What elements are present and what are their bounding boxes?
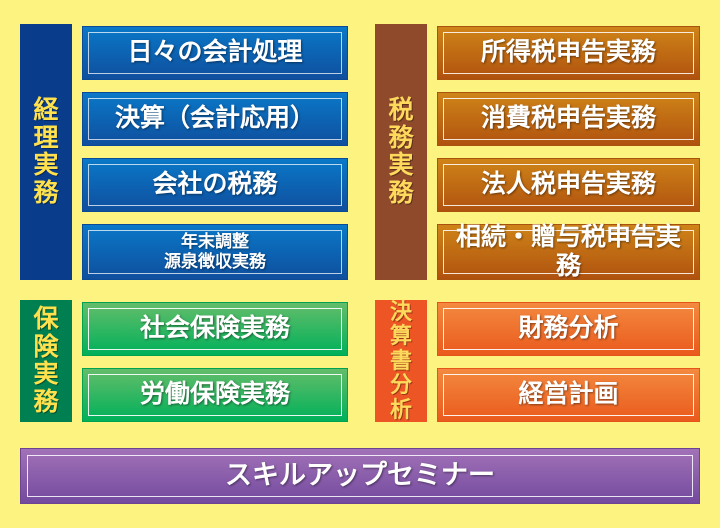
course-box-daily-accounting[interactable]: 日々の会計処理 bbox=[82, 26, 348, 80]
course-box-corporate-tax-filing[interactable]: 法人税申告実務 bbox=[437, 158, 700, 212]
course-box-inheritance-gift-tax-filing[interactable]: 相続・贈与税申告実務 bbox=[437, 224, 700, 280]
course-title-line2: 源泉徴収実務 bbox=[164, 252, 266, 271]
category-label-char: 理 bbox=[33, 126, 58, 152]
course-box-labor-insurance[interactable]: 労働保険実務 bbox=[82, 368, 348, 422]
category-label-kessansho-bunseki[interactable]: 決 算 書 分 析 bbox=[375, 300, 427, 422]
course-box-consumption-tax-filing[interactable]: 消費税申告実務 bbox=[437, 92, 700, 146]
category-label-char: 実 bbox=[388, 153, 413, 179]
course-title-multiline: 年末調整 源泉徴収実務 bbox=[164, 232, 266, 272]
category-label-char: 決 bbox=[390, 301, 412, 323]
category-label-char: 務 bbox=[33, 390, 58, 416]
course-box-year-end-adjustment[interactable]: 年末調整 源泉徴収実務 bbox=[82, 224, 348, 280]
course-title: 決算（会計応用） bbox=[115, 104, 315, 134]
course-title: 会社の税務 bbox=[152, 170, 277, 200]
category-label-char: 析 bbox=[390, 399, 412, 421]
course-title: 社会保険実務 bbox=[140, 314, 290, 344]
category-label-char: 経 bbox=[33, 98, 58, 124]
category-label-keiri-jitsumu[interactable]: 経 理 実 務 bbox=[20, 24, 72, 280]
category-label-char: 算 bbox=[390, 325, 412, 347]
course-title: 相続・贈与税申告実務 bbox=[444, 223, 693, 282]
course-box-settlement-accounting[interactable]: 決算（会計応用） bbox=[82, 92, 348, 146]
course-title: 労働保険実務 bbox=[140, 380, 290, 410]
category-label-char: 分 bbox=[390, 374, 412, 396]
banner-title: スキルアップセミナー bbox=[225, 460, 495, 492]
course-box-income-tax-filing[interactable]: 所得税申告実務 bbox=[437, 26, 700, 80]
category-label-zeimu-jitsumu[interactable]: 税 務 実 務 bbox=[375, 24, 427, 280]
course-box-business-plan[interactable]: 経営計画 bbox=[437, 368, 700, 422]
category-label-char: 務 bbox=[388, 126, 413, 152]
category-label-char: 書 bbox=[390, 350, 412, 372]
course-title: 消費税申告実務 bbox=[481, 104, 656, 134]
category-label-char: 保 bbox=[33, 307, 58, 333]
course-title: 日々の会計処理 bbox=[127, 38, 302, 68]
category-label-char: 税 bbox=[388, 98, 413, 124]
category-label-hoken-jitsumu[interactable]: 保 険 実 務 bbox=[20, 300, 72, 422]
category-label-char: 実 bbox=[33, 153, 58, 179]
course-title-line1: 年末調整 bbox=[181, 232, 249, 251]
course-title: 所得税申告実務 bbox=[481, 38, 656, 68]
diagram-canvas: 経 理 実 務 日々の会計処理 決算（会計応用） 会社の税務 年末調整 源泉徴収… bbox=[0, 0, 720, 528]
category-label-char: 務 bbox=[388, 181, 413, 207]
course-box-social-insurance[interactable]: 社会保険実務 bbox=[82, 302, 348, 356]
course-title: 財務分析 bbox=[518, 314, 618, 344]
course-title: 法人税申告実務 bbox=[481, 170, 656, 200]
course-box-financial-analysis[interactable]: 財務分析 bbox=[437, 302, 700, 356]
course-title: 経営計画 bbox=[518, 380, 618, 410]
category-label-char: 険 bbox=[33, 335, 58, 361]
banner-skillup-seminar[interactable]: スキルアップセミナー bbox=[20, 448, 700, 504]
category-label-char: 務 bbox=[33, 181, 58, 207]
course-box-company-tax[interactable]: 会社の税務 bbox=[82, 158, 348, 212]
category-label-char: 実 bbox=[33, 362, 58, 388]
